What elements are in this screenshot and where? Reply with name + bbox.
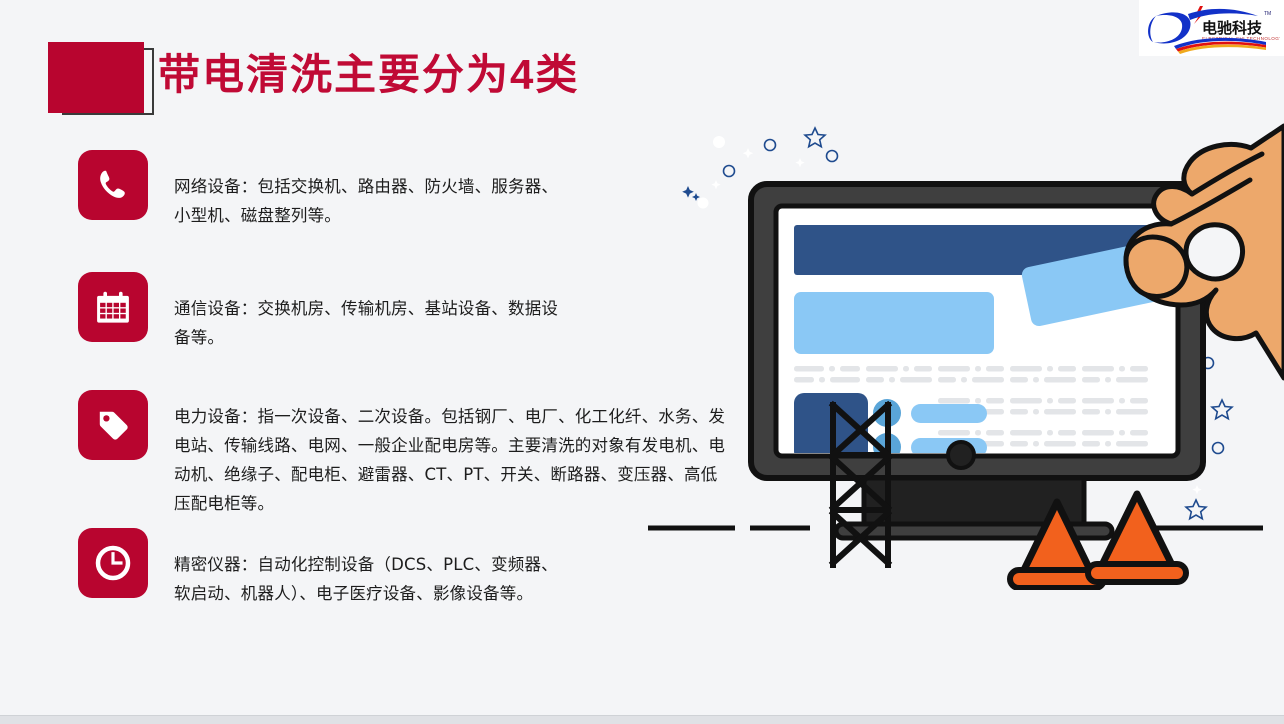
svg-text:电驰科技: 电驰科技 bbox=[1202, 19, 1263, 37]
tag-icon bbox=[78, 390, 148, 460]
list-item-label: 通信设备：交换机房、传输机房、基站设备、数据设备等。 bbox=[174, 272, 574, 352]
logo-mark-icon: 电驰科技 ELECTRICAL CHI TECHNOLOGY TM bbox=[1140, 2, 1280, 54]
list-item-label: 网络设备：包括交换机、路由器、防火墙、服务器、小型机、磁盘整列等。 bbox=[174, 150, 574, 230]
calendar-icon bbox=[78, 272, 148, 342]
logo-plate: 电驰科技 ELECTRICAL CHI TECHNOLOGY TM bbox=[1139, 0, 1284, 56]
page-title: 带电清洗主要分为4类 bbox=[158, 46, 579, 104]
phone-icon bbox=[78, 150, 148, 220]
title-accent-square bbox=[48, 42, 144, 113]
bottom-strip bbox=[0, 716, 1284, 724]
list-item-label: 精密仪器：自动化控制设备（DCS、PLC、变频器、软启动、机器人）、电子医疗设备… bbox=[174, 528, 574, 608]
company-logo: 电驰科技 ELECTRICAL CHI TECHNOLOGY TM bbox=[1140, 2, 1280, 54]
monitor-hand-pylon-illustration bbox=[630, 110, 1284, 590]
svg-text:TM: TM bbox=[1264, 11, 1271, 17]
clock-icon bbox=[78, 528, 148, 598]
page-title-block: 带电清洗主要分为4类 bbox=[40, 24, 740, 124]
